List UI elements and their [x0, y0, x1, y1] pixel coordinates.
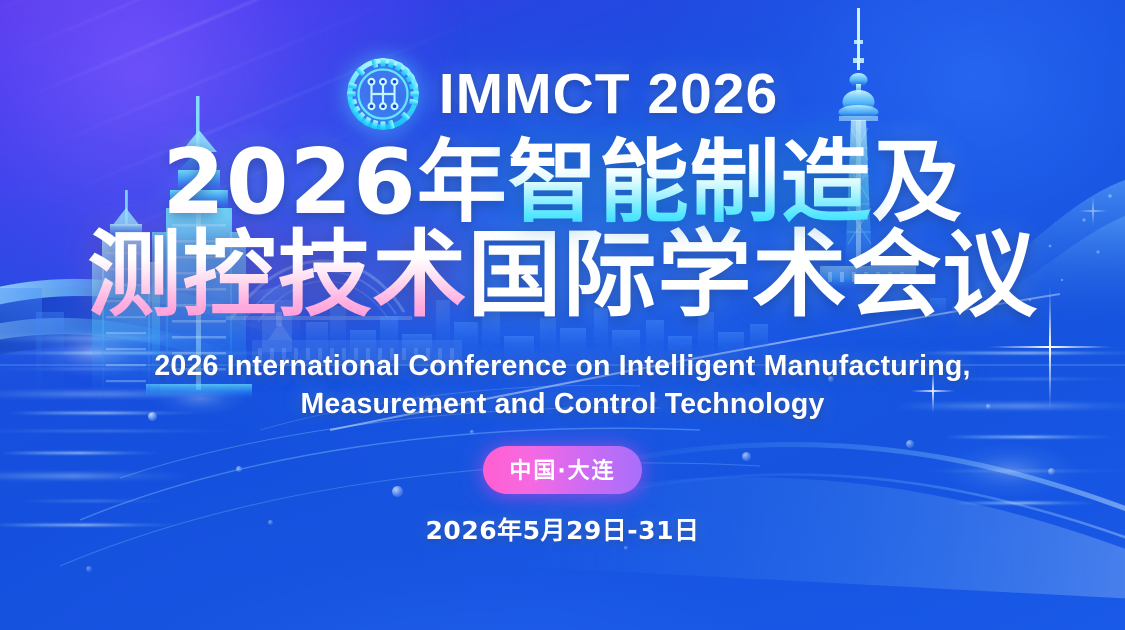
conference-banner: IMMCT 2026 2026年智能制造及 测控技术国际学术会议 2026 In…: [0, 0, 1125, 630]
cn-seg-year: 2026年: [162, 134, 508, 231]
cn-seg-intelligent-manufacturing: 智能制造: [508, 134, 872, 231]
cn-seg-international-conference: 国际学术会议: [468, 225, 1038, 327]
chinese-title-line1: 2026年智能制造及: [87, 134, 1037, 231]
cn-seg-measurement-control-tech: 测控技术: [87, 225, 467, 327]
logo-row: IMMCT 2026: [347, 58, 778, 130]
conference-date: 2026年5月29日-31日: [426, 511, 700, 547]
chinese-title: 2026年智能制造及 测控技术国际学术会议: [87, 134, 1037, 327]
brand-title: IMMCT 2026: [439, 66, 778, 123]
gear-circuit-icon: [347, 58, 419, 130]
english-title-line1: 2026 International Conference on Intelli…: [154, 347, 970, 385]
banner-content: IMMCT 2026 2026年智能制造及 测控技术国际学术会议 2026 In…: [0, 0, 1125, 630]
location-badge: 中国·大连: [483, 446, 641, 494]
english-title-line2: Measurement and Control Technology: [154, 385, 970, 423]
cn-seg-and: 及: [872, 134, 963, 231]
english-title: 2026 International Conference on Intelli…: [154, 347, 970, 424]
chinese-title-line2: 测控技术国际学术会议: [87, 225, 1037, 327]
